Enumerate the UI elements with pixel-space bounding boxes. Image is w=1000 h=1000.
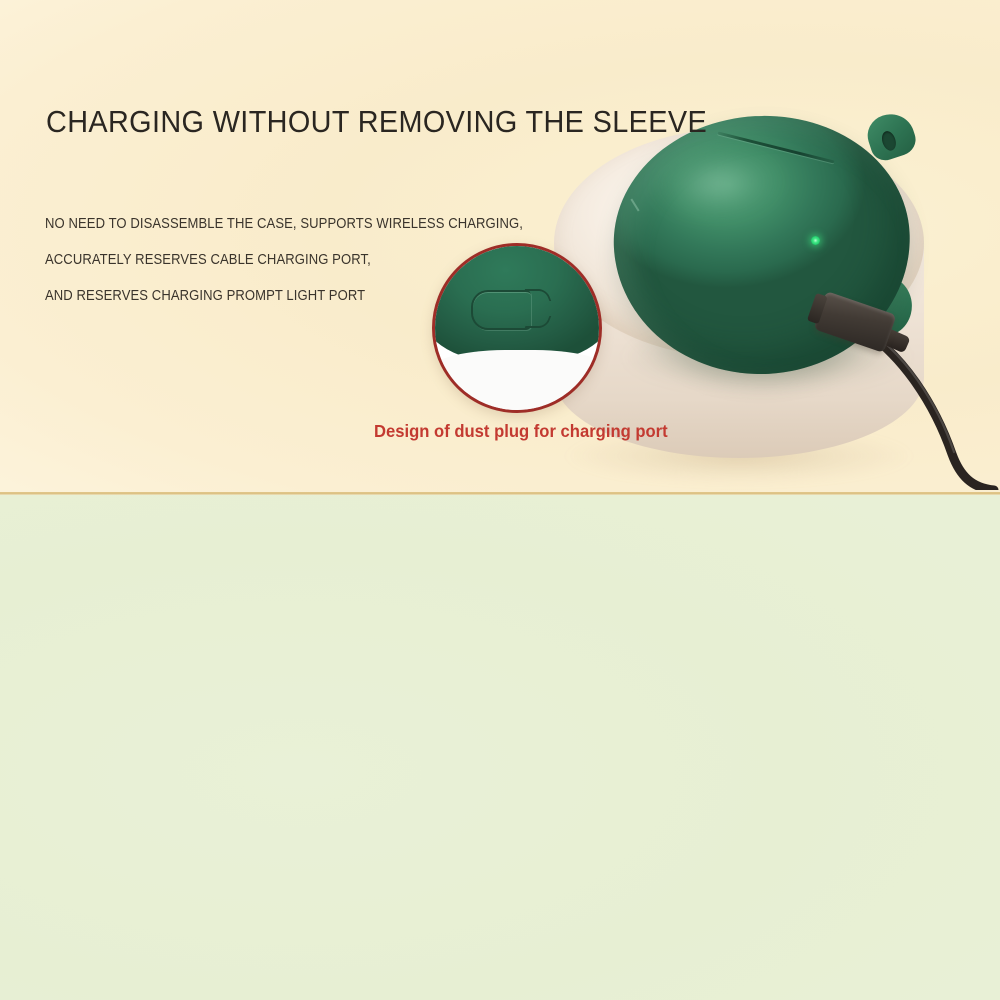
section-divider [0,492,1000,495]
section-support-wireless-charging: SUPPORT WIRELESS CHARGING PUT IT DOWN AN… [0,495,1000,1000]
body-line-3: AND RESERVES CHARGING PROMPT LIGHT PORT [45,288,365,304]
charging-led-indicator [811,236,820,245]
dust-plug-caption: Design of dust plug for charging port [374,421,668,442]
dust-plug-magnifier [432,243,602,413]
page-title-top: CHARGING WITHOUT REMOVING THE SLEEVE [46,104,707,140]
dust-plug-outline-icon [471,290,531,330]
body-line-1: NO NEED TO DISASSEMBLE THE CASE, SUPPORT… [45,216,523,232]
section-charging-without-removing-sleeve: CHARGING WITHOUT REMOVING THE SLEEVE NO … [0,0,1000,494]
body-line-2: ACCURATELY RESERVES CABLE CHARGING PORT, [45,252,371,268]
earbuds-case-green [600,108,940,398]
product-feature-poster: CHARGING WITHOUT REMOVING THE SLEEVE NO … [0,0,1000,1000]
magnifier-white-backdrop [432,350,602,413]
